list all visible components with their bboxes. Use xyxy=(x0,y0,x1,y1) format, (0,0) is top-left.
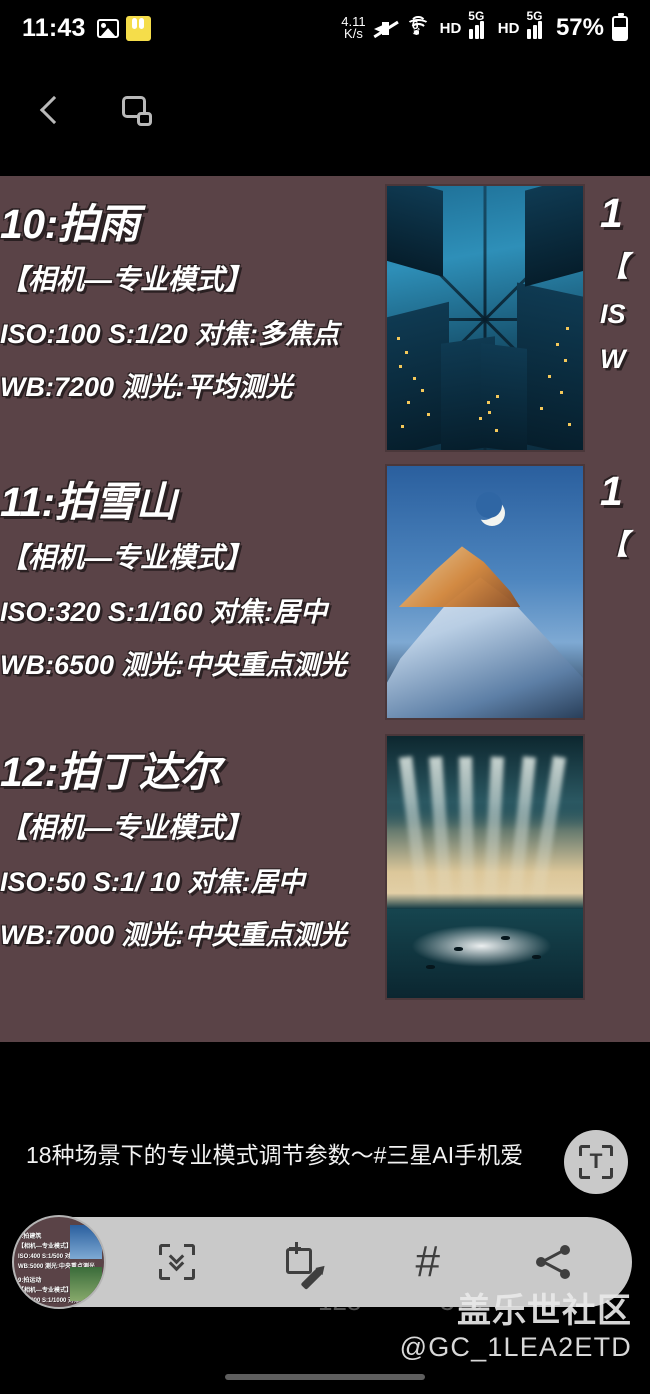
edge-subtitle: 【 xyxy=(600,245,650,285)
edge-card-partial-1: 1 【 IS W xyxy=(600,190,650,375)
share-icon xyxy=(536,1245,570,1279)
wifi-6-icon: 6 ↓↑ xyxy=(405,18,432,38)
card-subtitle: 【相机—专业模式】 xyxy=(0,536,400,576)
status-time: 11:43 xyxy=(22,14,86,43)
sim2-signal-icon: 5G xyxy=(527,18,548,39)
sim1-network-label: 5G xyxy=(468,9,484,23)
image-viewer[interactable]: 10:拍雨 【相机—专业模式】 ISO:100 S:1/20 对焦:多焦点 WB… xyxy=(0,176,650,1042)
phone-screen: 11:43 4.11 K/s 6 ↓↑ HD 5G HD 5G xyxy=(0,0,650,1394)
rain-city-umbrella-photo xyxy=(385,184,585,452)
edge-title: 1 xyxy=(600,468,650,515)
edge-card-partial-2: 1 【 xyxy=(600,468,650,563)
image-caption: 18种场景下的专业模式调节参数～#三星AI手机爱 xyxy=(0,1135,650,1175)
card-row-exposure: ISO:50 S:1/ 10 对焦:居中 xyxy=(0,860,400,899)
snow-mountain-moon-photo xyxy=(385,464,585,720)
network-speed-indicator: 4.11 K/s xyxy=(341,16,365,40)
back-chevron-icon xyxy=(40,96,68,124)
watermark-handle: @GC_1LEA2ETD xyxy=(400,1332,632,1363)
network-speed-unit: K/s xyxy=(341,28,365,40)
extract-text-button[interactable] xyxy=(140,1225,214,1299)
thumb-line: 【相机—专业模式】 xyxy=(18,1285,72,1294)
pop-up-view-icon xyxy=(122,96,152,124)
thumb-line: 【相机—专业模式】 xyxy=(18,1241,72,1250)
tyndall-rays-ocean-photo xyxy=(385,734,585,1000)
edge-title: 1 xyxy=(600,190,650,237)
bunny-app-icon xyxy=(126,16,151,41)
card-title: 11:拍雪山 xyxy=(0,468,400,528)
ocr-t-glyph: T xyxy=(579,1145,613,1179)
sim1-signal-icon: 5G xyxy=(469,18,490,39)
card-row-exposure: ISO:320 S:1/160 对焦:居中 xyxy=(0,590,400,629)
battery-icon xyxy=(612,16,628,41)
card-title: 10:拍雨 xyxy=(0,190,400,250)
card-row-wb: WB:6500 测光:中央重点测光 xyxy=(0,643,400,682)
hashtag-icon: # xyxy=(416,1240,440,1284)
status-bar: 11:43 4.11 K/s 6 ↓↑ HD 5G HD 5G xyxy=(0,0,650,56)
edge-row-1: IS xyxy=(600,299,650,330)
card-row-wb: WB:7200 测光:平均测光 xyxy=(0,365,400,404)
viewer-top-bar xyxy=(0,56,650,164)
extract-text-icon xyxy=(159,1244,195,1280)
sim2-network-label: 5G xyxy=(526,9,542,23)
card-subtitle: 【相机—专业模式】 xyxy=(0,258,400,298)
sim2-voice-label: HD xyxy=(498,20,520,37)
back-button[interactable] xyxy=(18,77,84,143)
thumb-line: 9:拍运动 xyxy=(18,1275,41,1284)
hashtag-button[interactable]: # xyxy=(391,1225,465,1299)
sim1-voice-label: HD xyxy=(440,20,462,37)
edge-row-2: W xyxy=(600,344,650,375)
gesture-bar[interactable] xyxy=(225,1374,425,1380)
gallery-icon xyxy=(97,19,119,38)
crop-edit-icon xyxy=(283,1243,321,1281)
image-thumbnail[interactable]: 8:拍建筑 【相机—专业模式】 ISO:400 S:1/500 对焦:全开 WB… xyxy=(12,1215,106,1309)
watermark-community: 盖乐世社区 xyxy=(457,1283,632,1332)
battery-percent-label: 57% xyxy=(556,14,604,42)
status-right-icons: 4.11 K/s 6 ↓↑ HD 5G HD 5G 57% xyxy=(341,14,628,42)
card-subtitle: 【相机—专业模式】 xyxy=(0,806,400,846)
card-row-exposure: ISO:100 S:1/20 对焦:多焦点 xyxy=(0,312,400,351)
volume-mute-icon xyxy=(374,19,397,38)
crop-edit-button[interactable] xyxy=(265,1225,339,1299)
text-extract-button[interactable]: T xyxy=(564,1130,628,1194)
popup-view-button[interactable] xyxy=(104,77,170,143)
thumb-line: 8:拍建筑 xyxy=(18,1231,41,1240)
status-left-icons xyxy=(97,16,151,41)
card-row-wb: WB:7000 测光:中央重点测光 xyxy=(0,913,400,952)
card-title: 12:拍丁达尔 xyxy=(0,738,400,798)
text-scan-icon: T xyxy=(579,1145,613,1179)
poster-image: 10:拍雨 【相机—专业模式】 ISO:100 S:1/20 对焦:多焦点 WB… xyxy=(0,176,650,1042)
edge-subtitle: 【 xyxy=(600,523,650,563)
